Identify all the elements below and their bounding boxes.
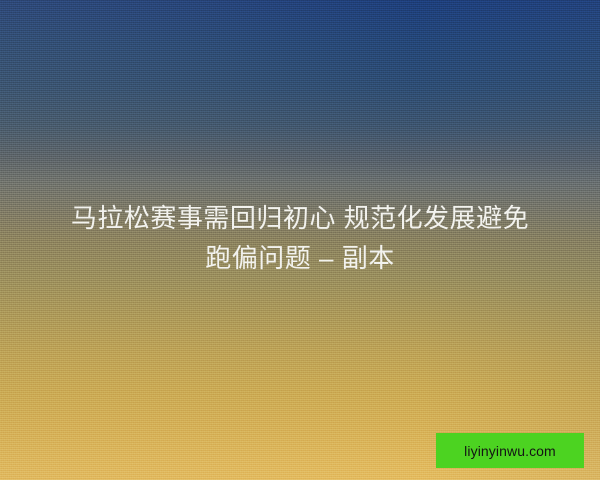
watermark-label: liyinyinwu.com (464, 444, 556, 458)
thumbnail-card: 马拉松赛事需回归初心 规范化发展避免 跑偏问题 – 副本 liyinyinwu.… (0, 0, 600, 480)
title-overlay: 马拉松赛事需回归初心 规范化发展避免 跑偏问题 – 副本 (0, 198, 600, 278)
title-line-1: 马拉松赛事需回归初心 规范化发展避免 (24, 198, 576, 238)
title-line-2: 跑偏问题 – 副本 (24, 238, 576, 278)
watermark-badge: liyinyinwu.com (436, 433, 584, 468)
